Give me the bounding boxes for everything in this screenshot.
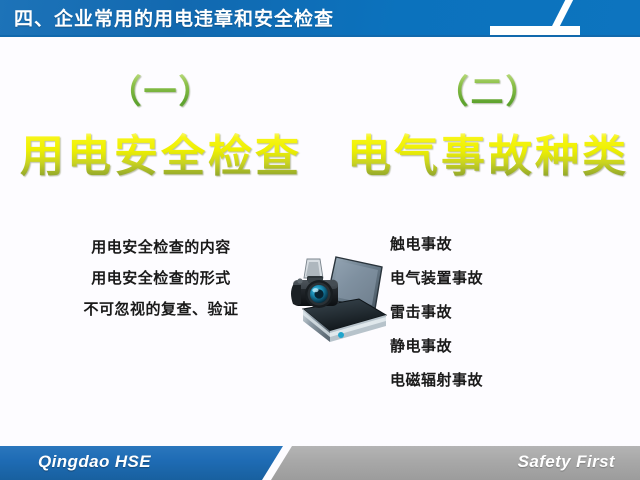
content-column-left: （一） 用电安全检查: [6, 70, 316, 186]
section-title-two: 电气事故种类: [340, 128, 636, 186]
section-number-one: （一）: [6, 70, 316, 116]
camera-on-laptop-illustration: [287, 247, 387, 355]
list-item: 静电事故: [390, 330, 630, 364]
bullet-list-left: 用电安全检查的内容 用电安全检查的形式 不可忽视的复查、验证: [46, 232, 276, 325]
footer-slogan-label: Safety First: [518, 452, 615, 472]
content-column-right: （二） 电气事故种类: [340, 70, 636, 186]
list-item: 触电事故: [390, 228, 630, 262]
list-item: 电气装置事故: [390, 262, 630, 296]
presentation-slide: 四、企业常用的用电违章和安全检查 （一） 用电安全检查 （二） 电气事故种类 用…: [0, 0, 640, 480]
section-title-one: 用电安全检查: [6, 128, 316, 186]
slide-header-bar: 四、企业常用的用电违章和安全检查: [0, 0, 640, 36]
list-item: 雷击事故: [390, 296, 630, 330]
list-item: 用电安全检查的内容: [46, 232, 276, 263]
list-item: 不可忽视的复查、验证: [46, 294, 276, 325]
bullet-list-right: 触电事故 电气装置事故 雷击事故 静电事故 电磁辐射事故: [390, 228, 630, 398]
header-underline-rule: [0, 35, 640, 37]
slide-header-title: 四、企业常用的用电违章和安全检查: [14, 4, 334, 31]
section-number-two: （二）: [340, 70, 636, 116]
list-item: 电磁辐射事故: [390, 364, 630, 398]
footer-brand-label: Qingdao HSE: [38, 452, 151, 472]
slide-footer-bar: Qingdao HSE Safety First: [0, 446, 640, 480]
list-item: 用电安全检查的形式: [46, 263, 276, 294]
